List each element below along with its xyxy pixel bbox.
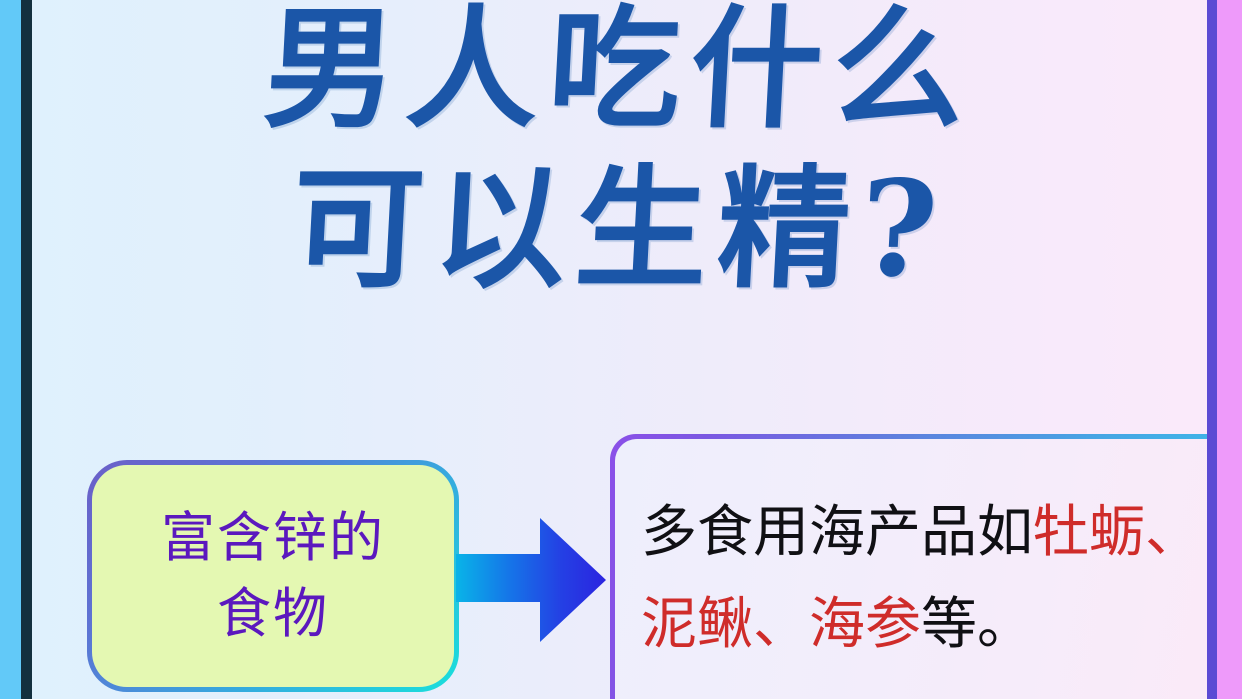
- detail-text-segment-1: 多食用海产品如: [641, 500, 1033, 565]
- right-arrow-icon: [456, 518, 606, 642]
- detail-card-text: 多食用海产品如牡蛎、泥鳅、海参等。: [641, 487, 1207, 671]
- right-pink-edge-strip: [1217, 0, 1242, 699]
- page-title: 男人吃什么 可以生精?: [32, 0, 1207, 310]
- right-violet-edge-strip: [1207, 0, 1217, 699]
- title-line-2: 可以生精?: [32, 150, 1207, 310]
- category-card-label-line-1: 富含锌的: [161, 500, 385, 576]
- detail-card[interactable]: 多食用海产品如牡蛎、泥鳅、海参等。: [610, 434, 1207, 699]
- category-card-body: 富含锌的 食物: [92, 465, 454, 687]
- detail-card-body: 多食用海产品如牡蛎、泥鳅、海参等。: [615, 439, 1207, 699]
- poster-canvas: 男人吃什么 可以生精? 富含锌的 食物: [32, 0, 1207, 699]
- category-card[interactable]: 富含锌的 食物: [87, 460, 459, 692]
- detail-text-segment-3: 等。: [921, 592, 1033, 657]
- category-card-label-line-2: 食物: [217, 576, 329, 652]
- poster-root: 男人吃什么 可以生精? 富含锌的 食物: [0, 0, 1242, 699]
- title-line-1: 男人吃什么: [32, 0, 1207, 150]
- left-dark-edge-strip: [21, 0, 32, 699]
- left-outer-edge-strip: [0, 0, 21, 699]
